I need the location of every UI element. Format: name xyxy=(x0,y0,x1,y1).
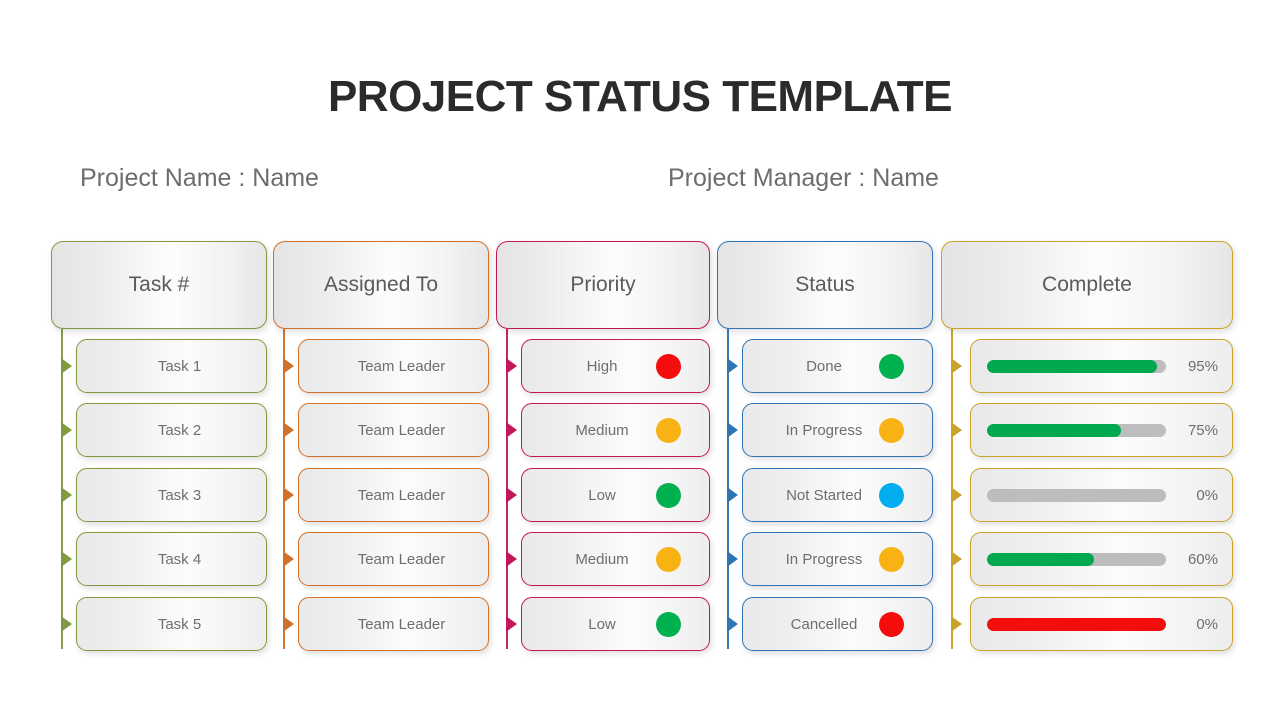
progress-fill xyxy=(987,360,1157,373)
column-status: StatusDoneIn ProgressNot StartedIn Progr… xyxy=(716,241,934,661)
table-row[interactable]: Low xyxy=(521,468,710,522)
table-row[interactable]: Task 5 xyxy=(76,597,267,651)
row-arrow-icon xyxy=(727,551,738,567)
table-row[interactable]: 75% xyxy=(970,403,1233,457)
row-arrow-icon xyxy=(951,551,962,567)
table-row[interactable]: 95% xyxy=(970,339,1233,393)
row-arrow-icon xyxy=(727,616,738,632)
status-dot-green xyxy=(879,354,904,379)
column-header-label: Assigned To xyxy=(324,273,438,297)
cell-assigned-label: Team Leader xyxy=(299,487,488,504)
column-header-assigned[interactable]: Assigned To xyxy=(273,241,489,329)
progress-percent-label: 95% xyxy=(1166,358,1218,375)
progress-fill xyxy=(987,553,1094,566)
row-arrow-icon xyxy=(951,616,962,632)
cell-priority-label: Medium xyxy=(522,551,656,568)
table-row[interactable]: Task 2 xyxy=(76,403,267,457)
column-header-complete[interactable]: Complete xyxy=(941,241,1233,329)
table-row[interactable]: Task 1 xyxy=(76,339,267,393)
priority-dot-amber xyxy=(656,547,681,572)
table-row[interactable]: Task 4 xyxy=(76,532,267,586)
row-arrow-icon xyxy=(283,616,294,632)
row-arrow-icon xyxy=(61,422,72,438)
progress-fill xyxy=(987,424,1121,437)
column-header-label: Task # xyxy=(129,273,190,297)
row-arrow-icon xyxy=(61,551,72,567)
row-arrow-icon xyxy=(506,616,517,632)
progress-track xyxy=(987,424,1166,437)
completion-progress: 0% xyxy=(971,487,1232,504)
table-row[interactable]: Medium xyxy=(521,403,710,457)
row-arrow-icon xyxy=(506,551,517,567)
cell-task-label: Task 3 xyxy=(77,487,266,504)
cell-task-label: Task 2 xyxy=(77,422,266,439)
cell-assigned-label: Team Leader xyxy=(299,616,488,633)
row-arrow-icon xyxy=(283,422,294,438)
progress-percent-label: 75% xyxy=(1166,422,1218,439)
table-row[interactable]: In Progress xyxy=(742,403,933,457)
cell-status-label: Done xyxy=(743,358,879,375)
cell-task-label: Task 5 xyxy=(77,616,266,633)
completion-progress: 60% xyxy=(971,551,1232,568)
column-header-label: Priority xyxy=(570,273,635,297)
row-arrow-icon xyxy=(61,358,72,374)
row-arrow-icon xyxy=(951,358,962,374)
progress-fill xyxy=(987,618,1166,631)
row-arrow-icon xyxy=(727,358,738,374)
status-dot-amber xyxy=(879,418,904,443)
table-row[interactable]: Team Leader xyxy=(298,468,489,522)
completion-progress: 95% xyxy=(971,358,1232,375)
status-dot-red xyxy=(879,612,904,637)
priority-dot-green xyxy=(656,612,681,637)
row-arrow-icon xyxy=(61,616,72,632)
table-row[interactable]: Team Leader xyxy=(298,403,489,457)
row-arrow-icon xyxy=(951,487,962,503)
progress-track xyxy=(987,618,1166,631)
cell-priority-label: Low xyxy=(522,616,656,633)
row-arrow-icon xyxy=(727,487,738,503)
cell-status-label: Not Started xyxy=(743,487,879,504)
progress-percent-label: 60% xyxy=(1166,551,1218,568)
status-dot-cyan xyxy=(879,483,904,508)
column-header-label: Status xyxy=(795,273,855,297)
table-row[interactable]: Low xyxy=(521,597,710,651)
row-arrow-icon xyxy=(506,422,517,438)
progress-percent-label: 0% xyxy=(1166,487,1218,504)
priority-dot-green xyxy=(656,483,681,508)
cell-assigned-label: Team Leader xyxy=(299,551,488,568)
column-assigned: Assigned ToTeam LeaderTeam LeaderTeam Le… xyxy=(272,241,490,661)
cell-assigned-label: Team Leader xyxy=(299,422,488,439)
row-arrow-icon xyxy=(951,422,962,438)
project-meta: Project Name : Name Project Manager : Na… xyxy=(0,164,1280,198)
table-row[interactable]: 0% xyxy=(970,468,1233,522)
row-arrow-icon xyxy=(727,422,738,438)
progress-track xyxy=(987,489,1166,502)
table-row[interactable]: Team Leader xyxy=(298,597,489,651)
completion-progress: 0% xyxy=(971,616,1232,633)
project-manager-label: Project Manager : Name xyxy=(668,164,939,193)
row-arrow-icon xyxy=(283,358,294,374)
row-arrow-icon xyxy=(506,358,517,374)
status-table: Task #Task 1Task 2Task 3Task 4Task 5Assi… xyxy=(50,241,1234,661)
row-arrow-icon xyxy=(506,487,517,503)
progress-percent-label: 0% xyxy=(1166,616,1218,633)
project-status-slide: PROJECT STATUS TEMPLATE Project Name : N… xyxy=(0,0,1280,720)
table-row[interactable]: Cancelled xyxy=(742,597,933,651)
table-row[interactable]: Not Started xyxy=(742,468,933,522)
table-row[interactable]: In Progress xyxy=(742,532,933,586)
priority-dot-red xyxy=(656,354,681,379)
cell-priority-label: High xyxy=(522,358,656,375)
cell-task-label: Task 1 xyxy=(77,358,266,375)
page-title: PROJECT STATUS TEMPLATE xyxy=(0,72,1280,122)
cell-priority-label: Low xyxy=(522,487,656,504)
project-name-label: Project Name : Name xyxy=(80,164,319,193)
progress-track xyxy=(987,553,1166,566)
column-header-label: Complete xyxy=(1042,273,1132,297)
cell-priority-label: Medium xyxy=(522,422,656,439)
table-row[interactable]: High xyxy=(521,339,710,393)
table-row[interactable]: Task 3 xyxy=(76,468,267,522)
row-arrow-icon xyxy=(283,487,294,503)
table-row[interactable]: Team Leader xyxy=(298,339,489,393)
cell-status-label: Cancelled xyxy=(743,616,879,633)
table-row[interactable]: Team Leader xyxy=(298,532,489,586)
cell-task-label: Task 4 xyxy=(77,551,266,568)
table-row[interactable]: Medium xyxy=(521,532,710,586)
completion-progress: 75% xyxy=(971,422,1232,439)
column-priority: PriorityHighMediumLowMediumLow xyxy=(495,241,711,661)
table-row[interactable]: 60% xyxy=(970,532,1233,586)
table-row[interactable]: Done xyxy=(742,339,933,393)
cell-status-label: In Progress xyxy=(743,422,879,439)
column-header-status[interactable]: Status xyxy=(717,241,933,329)
table-row[interactable]: 0% xyxy=(970,597,1233,651)
column-header-priority[interactable]: Priority xyxy=(496,241,710,329)
cell-status-label: In Progress xyxy=(743,551,879,568)
cell-assigned-label: Team Leader xyxy=(299,358,488,375)
column-header-task[interactable]: Task # xyxy=(51,241,267,329)
status-dot-amber xyxy=(879,547,904,572)
row-arrow-icon xyxy=(283,551,294,567)
priority-dot-amber xyxy=(656,418,681,443)
row-arrow-icon xyxy=(61,487,72,503)
column-complete: Complete95%75%0%60%0% xyxy=(940,241,1234,661)
column-task: Task #Task 1Task 2Task 3Task 4Task 5 xyxy=(50,241,268,661)
progress-track xyxy=(987,360,1166,373)
